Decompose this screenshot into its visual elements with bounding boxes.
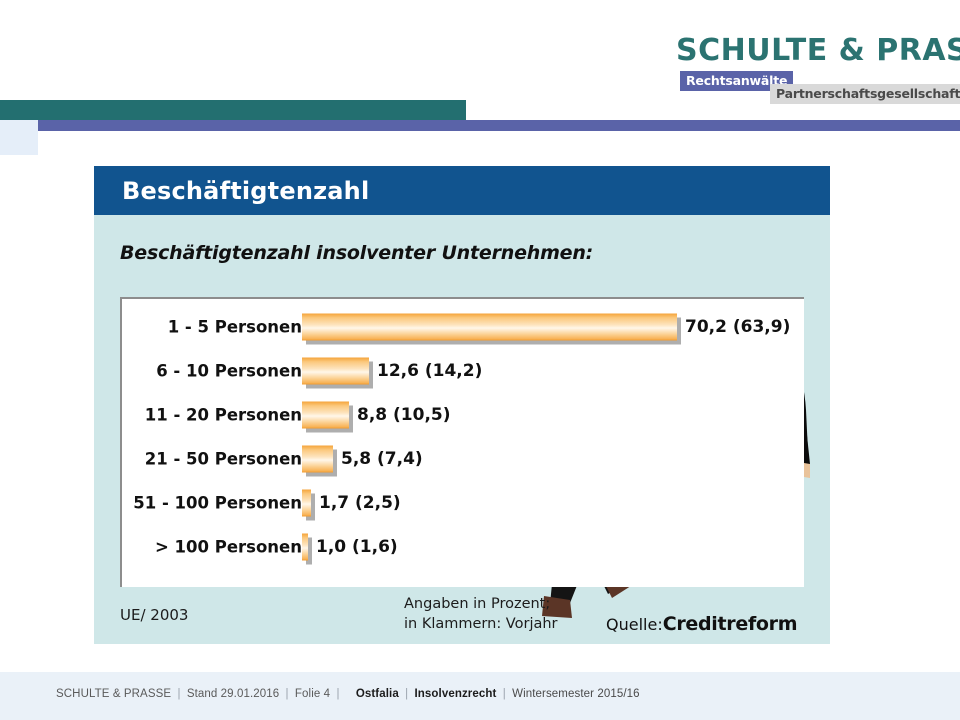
footer-text: SCHULTE & PRASSE | Stand 29.01.2016 | Fo…	[56, 688, 640, 700]
footer-term: Wintersemester 2015/16	[512, 688, 639, 700]
note-percent: Angaben in Prozent; in Klammern: Vorjahr	[404, 595, 558, 634]
bar-value-label: 5,8 (7,4)	[341, 449, 423, 469]
chart-bar-row: 1 - 5 Personen 70,2 (63,9)	[122, 305, 806, 349]
footer-separator: |	[283, 688, 292, 700]
chart-bar-row: 11 - 20 Personen 8,8 (10,5)	[122, 393, 806, 437]
slide-card: Beschäftigtenzahl Beschäftigtenzahl inso…	[94, 166, 830, 644]
note-percent-line2: in Klammern: Vorjahr	[404, 615, 558, 635]
bar-fill	[302, 358, 369, 385]
chart-bar-row: 21 - 50 Personen 5,8 (7,4)	[122, 437, 806, 481]
footer-school: Ostfalia	[346, 688, 399, 700]
bar-value-label: 1,0 (1,6)	[316, 537, 398, 557]
bar-fill	[302, 314, 677, 341]
bar-fill	[302, 402, 349, 429]
footer-separator: |	[174, 688, 183, 700]
bar-category-label: 6 - 10 Personen	[156, 362, 302, 381]
bar-value-label: 70,2 (63,9)	[685, 317, 790, 337]
brand-wordmark: SCHULTE & PRASSE	[676, 36, 934, 66]
brand-tag-partnerschaftsgesellschaft: Partnerschaftsgesellschaft	[770, 84, 960, 104]
footer-separator: |	[333, 688, 342, 700]
bar-category-label: 51 - 100 Personen	[133, 494, 302, 513]
bar-track	[302, 358, 369, 385]
bar-category-label: 1 - 5 Personen	[168, 318, 302, 337]
slide-subtitle: Beschäftigtenzahl insolventer Unternehme…	[120, 242, 593, 264]
decor-blue-square	[0, 120, 38, 155]
footer-course: Insolvenzrecht	[415, 688, 497, 700]
slide-title: Beschäftigtenzahl	[122, 177, 369, 205]
brand-subtitle-row: Rechtsanwälte Partnerschaftsgesellschaft	[676, 71, 934, 101]
chart-bar-row: 51 - 100 Personen 1,7 (2,5)	[122, 481, 806, 525]
footer-folie: Folie 4	[295, 688, 330, 700]
bar-value-label: 1,7 (2,5)	[319, 493, 401, 513]
bar-track	[302, 490, 311, 517]
bar-category-label: 11 - 20 Personen	[145, 406, 302, 425]
note-period: UE/ 2003	[120, 606, 188, 624]
footer-separator: |	[500, 688, 509, 700]
chart-bar-row: > 100 Personen 1,0 (1,6)	[122, 525, 806, 569]
source-name: Creditreform	[663, 613, 798, 635]
chart-bar-row: 6 - 10 Personen 12,6 (14,2)	[122, 349, 806, 393]
bar-category-label: 21 - 50 Personen	[145, 450, 302, 469]
footer-stand: Stand 29.01.2016	[187, 688, 279, 700]
bar-fill	[302, 446, 333, 473]
bar-track	[302, 402, 349, 429]
bar-value-label: 12,6 (14,2)	[377, 361, 482, 381]
bar-track	[302, 314, 677, 341]
footer-separator: |	[402, 688, 411, 700]
chart-panel: 1 - 5 Personen 70,2 (63,9) 6 - 10 Person…	[120, 297, 804, 587]
bar-fill	[302, 534, 308, 561]
brand-logo: SCHULTE & PRASSE Rechtsanwälte Partnersc…	[676, 36, 934, 104]
bar-value-label: 8,8 (10,5)	[357, 405, 451, 425]
bar-fill	[302, 490, 311, 517]
bar-track	[302, 534, 308, 561]
source-label: Quelle:	[606, 615, 663, 634]
bar-track	[302, 446, 333, 473]
footer-company: SCHULTE & PRASSE	[56, 688, 171, 700]
decor-teal-bar	[0, 100, 466, 120]
note-source: Quelle:Creditreform	[606, 613, 797, 635]
note-percent-line1: Angaben in Prozent;	[404, 595, 558, 615]
bar-category-label: > 100 Personen	[155, 538, 302, 557]
decor-purple-bar	[38, 120, 960, 131]
